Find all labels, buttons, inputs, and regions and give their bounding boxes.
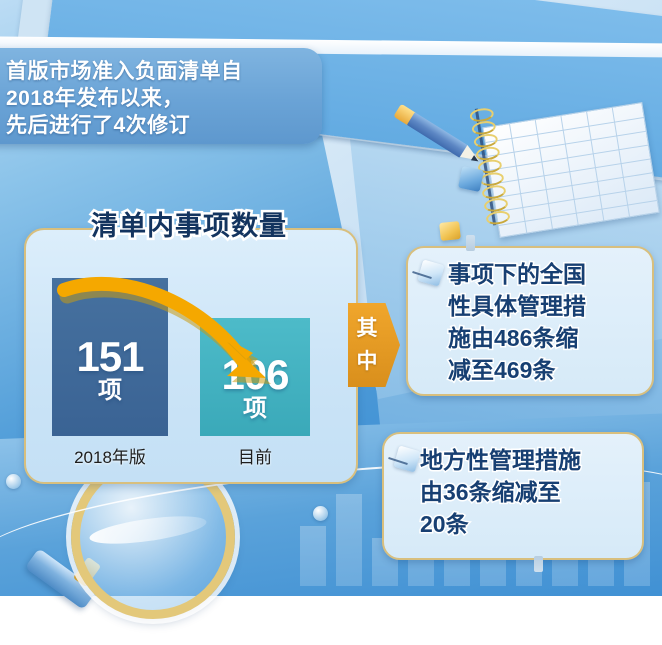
bar-2018: 151 项	[52, 278, 168, 436]
blue-cube-icon	[458, 166, 484, 192]
callout-stem-top	[466, 235, 475, 251]
bar-current-value-group: 106 项	[200, 354, 310, 422]
bar-current: 106 项	[200, 318, 310, 436]
bar-2018-value: 151	[52, 336, 168, 378]
header-line-1: 首版市场准入负面清单自	[6, 58, 304, 85]
infographic-canvas: 首版市场准入负面清单自 2018年发布以来， 先后进行了4次修订 清单内事项数量…	[0, 0, 662, 645]
callout-stem-bottom	[534, 556, 543, 572]
qizhong-badge: 其中	[348, 303, 400, 387]
bar-current-label: 目前	[200, 443, 310, 468]
callout-2-line-3: 20条	[420, 508, 628, 540]
header-line-2: 2018年发布以来，	[6, 85, 304, 112]
callout-national-measures: 事项下的全国 性具体管理措 施由486条缩 减至469条	[406, 246, 654, 396]
gold-cube-icon	[439, 221, 461, 241]
callout-1-line-4: 减至469条	[448, 354, 638, 386]
callout-local-measures: 地方性管理措施 由36条缩减至 20条	[382, 432, 644, 560]
callout-2-line-1: 地方性管理措施	[420, 444, 628, 476]
bar-2018-unit: 项	[52, 378, 168, 404]
callout-2-line-2: 由36条缩减至	[420, 476, 628, 508]
header-line-3: 先后进行了4次修订	[6, 112, 304, 139]
qizhong-label: 其中	[348, 312, 386, 378]
bar-2018-label: 2018年版	[42, 443, 178, 468]
bar-chart: 151 项 106 项 2018年版 目前	[24, 228, 354, 480]
spiral-notebook-icon	[470, 100, 660, 235]
orbit-dot-mid	[313, 506, 328, 521]
bar-current-value: 106	[200, 354, 310, 396]
header-banner: 首版市场准入负面清单自 2018年发布以来， 先后进行了4次修订	[0, 48, 322, 144]
bar-current-unit: 项	[200, 396, 310, 422]
callout-1-line-1: 事项下的全国	[448, 258, 638, 290]
callout-1-line-3: 施由486条缩	[448, 322, 638, 354]
orbit-dot-left	[6, 474, 21, 489]
callout-1-line-2: 性具体管理措	[448, 290, 638, 322]
bar-2018-value-group: 151 项	[52, 336, 168, 404]
